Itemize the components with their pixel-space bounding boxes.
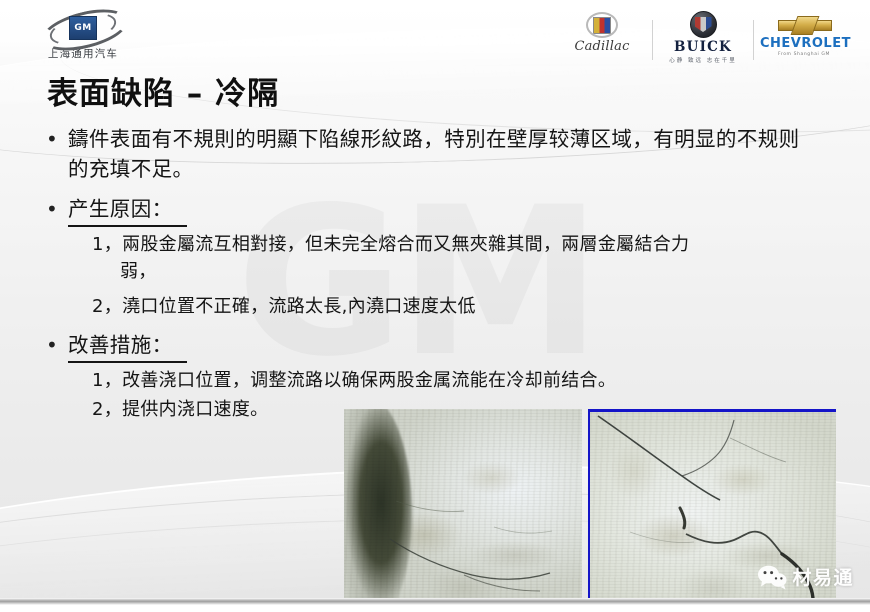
buick-logo: BUICK 心静 致远 志在千里 [659,10,747,62]
watermark-label: 材易通 [792,563,854,590]
causes-heading: 产生原因： [68,194,836,227]
footer-rule [0,598,870,605]
cadillac-crest-shield [593,17,611,34]
buick-tri-shield-icon [690,11,717,38]
page-title: 表面缺陷 – 冷隔 [47,68,279,113]
presentation-slide: GM GM 上海通用汽车 Cadillac BUICK 心静 致远 志在千里 [0,0,870,612]
cause-1-continuation: 弱， [92,258,836,285]
buick-wordmark: BUICK [659,39,747,55]
brand-divider [753,20,754,60]
chevrolet-tagline: From Shanghai GM [760,52,848,57]
measure-1-number: 1， [92,370,122,391]
measure-2-number: 2， [92,399,122,420]
countermeasures-heading: 改善措施： [68,330,836,363]
cause-2-text: 澆口位置不正確，流路太長,內澆口速度太低 [122,296,476,317]
bullet-item-countermeasures: • 改善措施： [46,330,836,363]
causes-heading-label: 产生原因： [68,194,187,227]
countermeasures-heading-label: 改善措施： [68,330,187,363]
measure-1-text: 改善浇口位置，调整流路以确保两股金属流能在冷却前结合。 [122,370,616,391]
cause-1-text: 兩股金屬流互相對接，但未完全熔合而又無夾雜其間，兩層金屬結合力 [122,234,689,255]
brand-logo-bar: Cadillac BUICK 心静 致远 志在千里 CHEVROLET From… [558,10,848,62]
photo-left-grain [344,409,582,612]
slide-body: • 鑄件表面有不規則的明顯下陷線形紋路，特別在壁厚较薄区域，有明显的不规则的充填… [46,124,836,425]
shanghai-gm-mark-icon: GM [37,12,129,44]
cause-2-number: 2， [92,296,122,317]
description-text: 鑄件表面有不規則的明顯下陷線形紋路，特別在壁厚较薄区域，有明显的不规则的充填不足… [68,124,816,184]
cadillac-crest-icon [586,12,618,38]
gm-badge-icon: GM [69,16,97,40]
chevrolet-logo: CHEVROLET From Shanghai GM [760,10,848,62]
cause-1-number: 1， [92,234,122,255]
chevrolet-bowtie-icon [778,16,830,33]
buick-tagline: 心静 致远 志在千里 [659,56,747,64]
wechat-watermark: 材易通 [757,563,854,590]
cadillac-wordmark: Cadillac [558,39,646,54]
casting-surface-photo-left [344,409,582,612]
brand-divider [652,20,653,60]
chevrolet-wordmark: CHEVROLET [760,36,848,51]
bullet-marker-icon: • [46,124,68,154]
wechat-icon [757,564,787,590]
bullet-item-causes: • 产生原因： [46,194,836,227]
list-item: 1，改善浇口位置，调整流路以确保两股金属流能在冷却前结合。 [92,367,836,394]
footer-white-band [0,605,870,612]
causes-sub-list: 1，兩股金屬流互相對接，但未完全熔合而又無夾雜其間，兩層金屬結合力 弱， 2，澆… [92,231,836,320]
buick-shield-colors [695,17,712,32]
cadillac-logo: Cadillac [558,10,646,62]
list-item: 1，兩股金屬流互相對接，但未完全熔合而又無夾雜其間，兩層金屬結合力 弱， [92,231,836,285]
bullet-item-description: • 鑄件表面有不規則的明顯下陷線形紋路，特別在壁厚较薄区域，有明显的不规则的充填… [46,124,836,184]
bullet-marker-icon: • [46,330,68,360]
measure-2-text: 提供内浇口速度。 [122,399,268,420]
shanghai-gm-logo: GM 上海通用汽车 [24,12,142,60]
bullet-marker-icon: • [46,194,68,224]
list-item: 2，澆口位置不正確，流路太長,內澆口速度太低 [92,293,836,320]
